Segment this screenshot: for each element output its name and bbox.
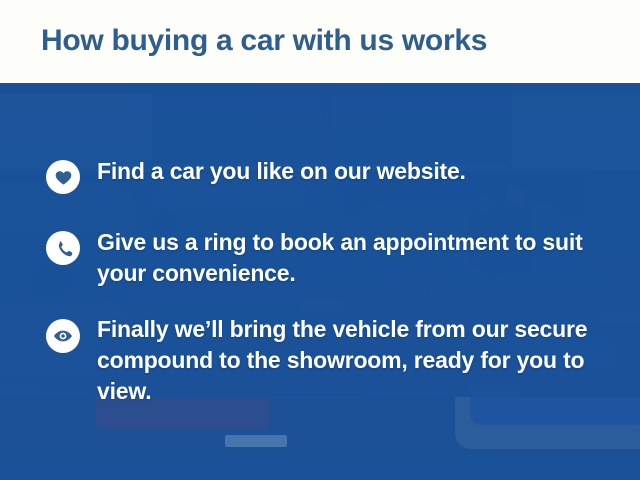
list-item-step-3-label: Finally we’ll bring the vehicle from our… <box>97 314 617 407</box>
page-title: How buying a car with us works <box>41 24 487 58</box>
promo-slide: How buying a car with us works Find a ca… <box>0 0 640 480</box>
heart-icon <box>46 160 80 194</box>
list-item-step-2-label: Give us a ring to book an appointment to… <box>97 227 617 289</box>
list-item-step-1-label: Find a car you like on our website. <box>97 156 617 187</box>
phone-icon <box>46 231 80 265</box>
header-band: How buying a car with us works <box>0 0 640 83</box>
eye-icon <box>46 319 80 353</box>
steps-list: Find a car you like on our website. Give… <box>0 83 640 480</box>
